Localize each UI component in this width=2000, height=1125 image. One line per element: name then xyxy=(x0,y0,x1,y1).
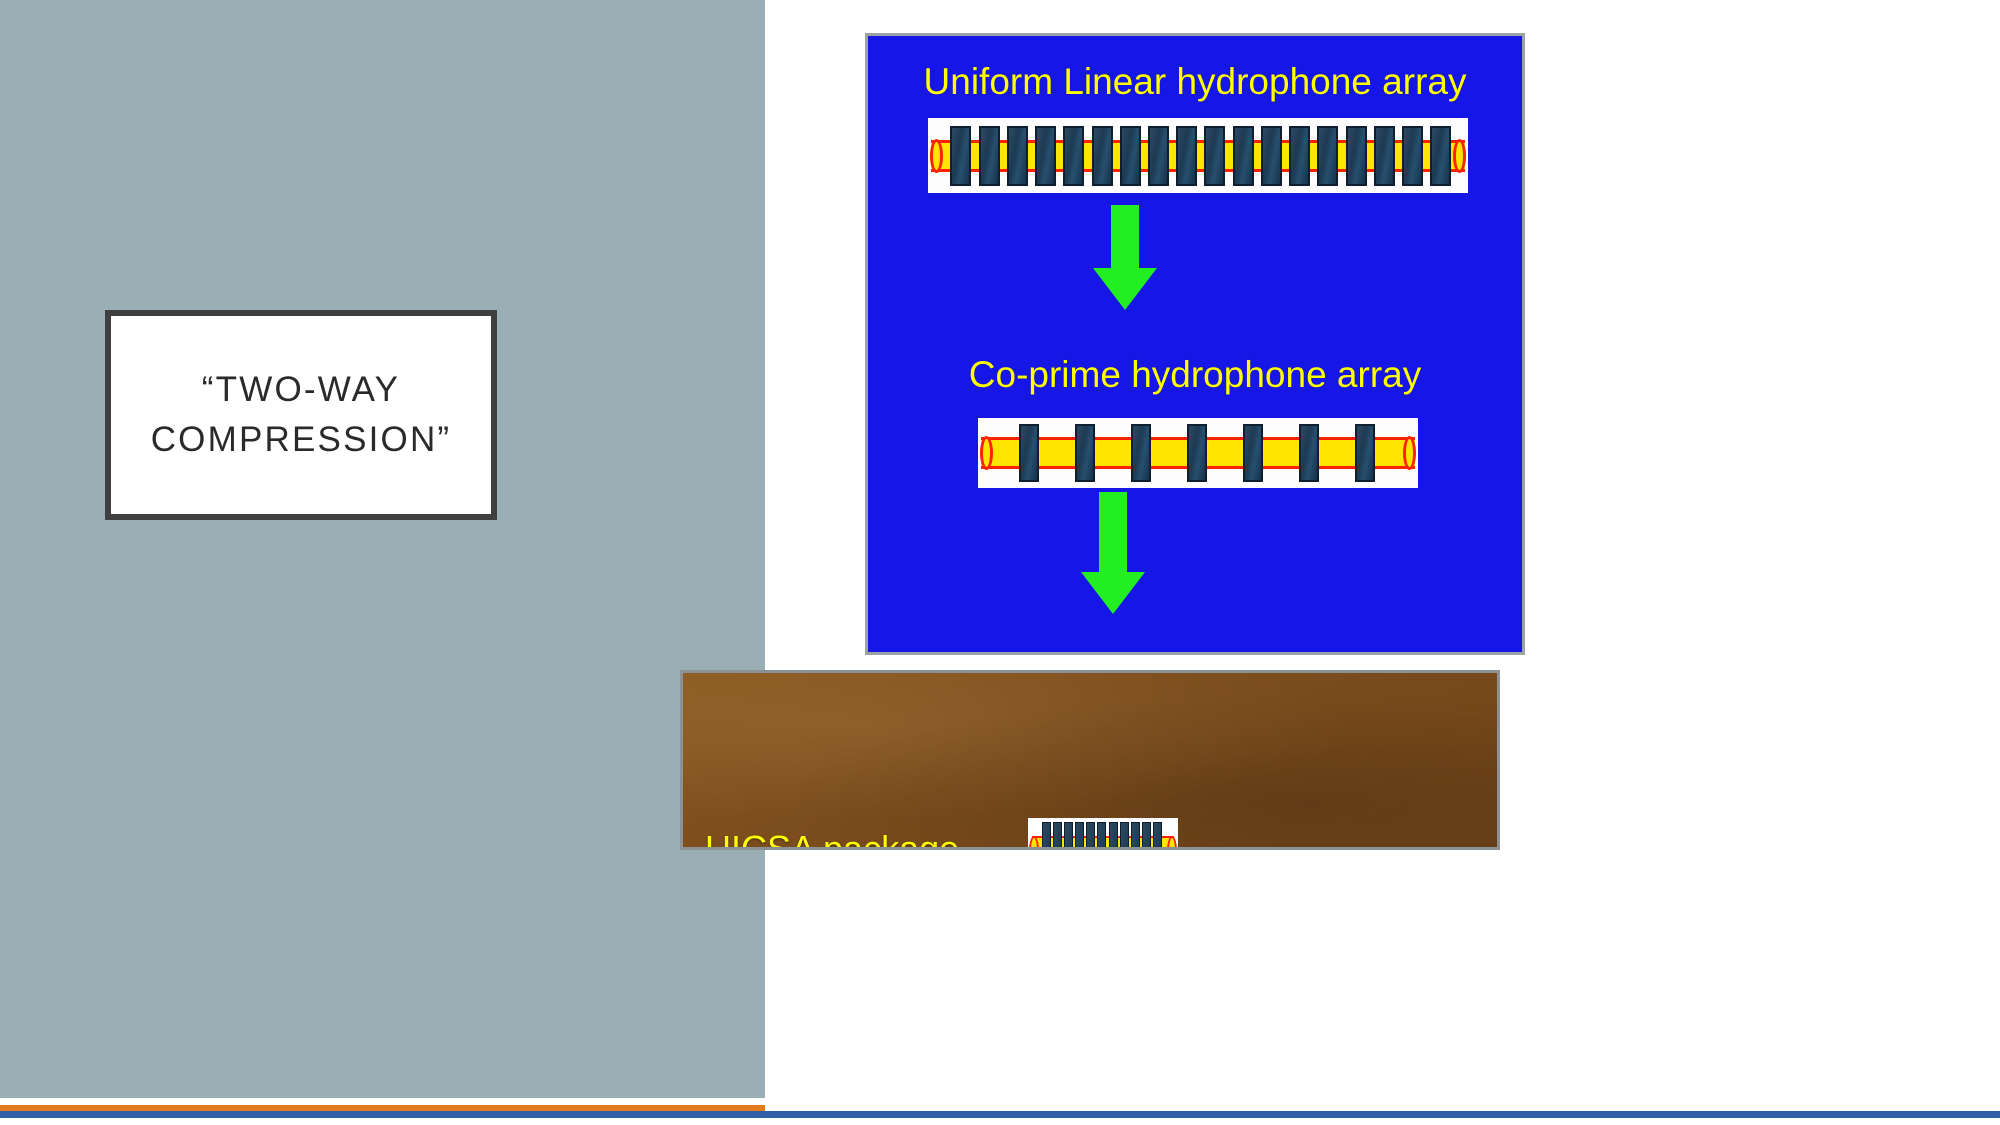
slide-canvas: “TWO-WAY COMPRESSION” Uniform Linear hyd… xyxy=(0,0,2000,1125)
hydrophone-element xyxy=(1120,126,1141,186)
two-way-compression-callout-box: “TWO-WAY COMPRESSION” xyxy=(105,310,497,520)
hydrophone-element xyxy=(1042,822,1051,850)
footer-blue-accent xyxy=(0,1111,2000,1118)
ula-cable-end-right-icon xyxy=(1453,139,1466,173)
arrow-shaft xyxy=(1099,492,1127,572)
hydrophone-element xyxy=(1075,424,1095,482)
hydrophone-element xyxy=(1075,822,1084,850)
hydrophone-element xyxy=(1131,822,1140,850)
uicsa-cable-end-right-icon xyxy=(1167,836,1177,850)
hydrophone-element xyxy=(1289,126,1310,186)
hydrophone-element xyxy=(1097,822,1106,850)
ula-to-coprime-arrow-icon xyxy=(1090,205,1160,310)
hydrophone-element xyxy=(1176,126,1197,186)
uicsa-package-label: UICSA package xyxy=(705,828,959,850)
brown-seabed-panel: UICSA package xyxy=(680,670,1500,850)
hydrophone-element xyxy=(1243,424,1263,482)
hydrophone-element xyxy=(1053,822,1062,850)
hydrophone-element xyxy=(1131,424,1151,482)
hydrophone-element xyxy=(1430,126,1451,186)
coprime-cable-end-left-icon xyxy=(980,436,993,470)
ula-cable-end-left-icon xyxy=(930,139,943,173)
hydrophone-element xyxy=(1187,424,1207,482)
hydrophone-element xyxy=(1007,126,1028,186)
uicsa-compressed-array-graphic xyxy=(1028,818,1178,850)
hydrophone-element xyxy=(1064,822,1073,850)
left-sidebar-panel xyxy=(0,0,765,1098)
hydrophone-element xyxy=(1374,126,1395,186)
hydrophone-element xyxy=(1035,126,1056,186)
hydrophone-element xyxy=(1120,822,1129,850)
hydrophone-element xyxy=(979,126,1000,186)
hydrophone-element xyxy=(1317,126,1338,186)
hydrophone-element xyxy=(1233,126,1254,186)
slide-footer-accent-bar xyxy=(0,1098,2000,1125)
callout-line-2: COMPRESSION” xyxy=(151,415,452,465)
coprime-to-package-arrow-icon xyxy=(1078,492,1148,614)
blue-diagram-panel: Uniform Linear hydrophone array Co-prime… xyxy=(865,33,1525,655)
arrow-head xyxy=(1093,268,1157,310)
hydrophone-element xyxy=(1153,822,1162,850)
hydrophone-element xyxy=(1142,822,1151,850)
hydrophone-element xyxy=(950,126,971,186)
arrow-shaft xyxy=(1111,205,1139,268)
callout-text: “TWO-WAY COMPRESSION” xyxy=(141,365,462,464)
coprime-cable-end-right-icon xyxy=(1403,436,1416,470)
uniform-linear-array-strip xyxy=(928,118,1468,193)
hydrophone-element xyxy=(1109,822,1118,850)
hydrophone-element xyxy=(1204,126,1225,186)
hydrophone-element xyxy=(1402,126,1423,186)
arrow-head xyxy=(1081,572,1145,614)
uniform-linear-array-title: Uniform Linear hydrophone array xyxy=(868,61,1522,103)
hydrophone-element xyxy=(1063,126,1084,186)
hydrophone-element xyxy=(1346,126,1367,186)
co-prime-array-strip xyxy=(978,418,1418,488)
callout-line-1: “TWO-WAY xyxy=(151,365,452,415)
hydrophone-element xyxy=(1355,424,1375,482)
hydrophone-element xyxy=(1261,126,1282,186)
hydrophone-element xyxy=(1086,822,1095,850)
hydrophone-element xyxy=(1148,126,1169,186)
hydrophone-element xyxy=(1092,126,1113,186)
hydrophone-element xyxy=(1299,424,1319,482)
co-prime-array-title: Co-prime hydrophone array xyxy=(868,354,1522,396)
hydrophone-element xyxy=(1019,424,1039,482)
